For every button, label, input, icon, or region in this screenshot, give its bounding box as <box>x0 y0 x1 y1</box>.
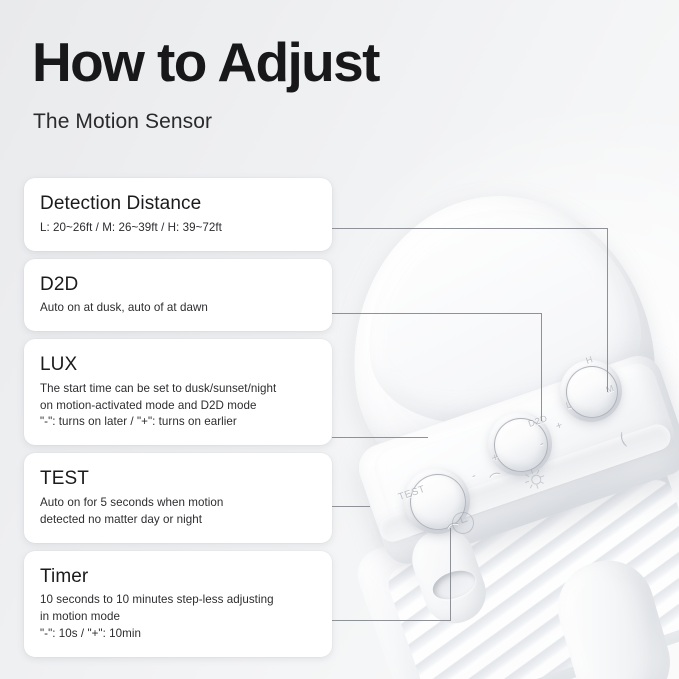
card-title: Timer <box>40 565 316 589</box>
leader-line-timer-h <box>332 620 451 621</box>
feature-card-list: Detection Distance L: 20~26ft / M: 26~39… <box>24 178 332 665</box>
engraving-minus-d2d: - <box>538 438 546 451</box>
page-title: How to Adjust <box>32 34 379 92</box>
dial-lux-knob <box>494 418 548 472</box>
leader-line-d2d-h <box>332 313 541 314</box>
card-timer: Timer 10 seconds to 10 minutes step-less… <box>24 551 332 657</box>
sensor-dome-edge <box>354 194 650 436</box>
leader-line-detection-distance-h <box>332 228 608 229</box>
card-body: The start time can be set to dusk/sunset… <box>40 381 316 431</box>
card-title: D2D <box>40 273 316 297</box>
card-d2d: D2D Auto on at dusk, auto of at dawn <box>24 259 332 332</box>
engraving-test: TEST <box>397 484 427 504</box>
engraving-minus-lux: - <box>470 470 478 483</box>
engraving-arc-lux: ⌒ <box>488 468 505 488</box>
card-lux: LUX The start time can be set to dusk/su… <box>24 339 332 445</box>
leader-line-d2d-v <box>541 313 542 421</box>
dial-test-ring <box>404 468 470 534</box>
sun-icon <box>524 468 547 491</box>
dial-d2d-ring <box>560 360 622 422</box>
engraving-plus-d2d: + <box>554 419 565 433</box>
clock-icon <box>449 509 477 537</box>
leader-line-test-h <box>332 506 370 507</box>
card-body: Auto on at dusk, auto of at dawn <box>40 300 316 317</box>
card-body: 10 seconds to 10 minutes step-less adjus… <box>40 592 316 642</box>
card-detection-distance: Detection Distance L: 20~26ft / M: 26~39… <box>24 178 332 251</box>
card-body: L: 20~26ft / M: 26~39ft / H: 39~72ft <box>40 220 316 237</box>
sensor-heatsink-fins <box>384 475 679 679</box>
sensor-control-housing <box>352 350 679 571</box>
dial-lux-ring <box>488 412 552 476</box>
page-root: TEST D2D L M H - + - + ⌒ ⌒ <box>0 0 679 679</box>
sensor-control-face <box>369 358 679 541</box>
sensor-mount-stem <box>547 550 679 679</box>
card-body: Auto on for 5 seconds when motion detect… <box>40 495 316 529</box>
dial-d2d-knob <box>566 366 618 418</box>
page-subtitle: The Motion Sensor <box>33 110 212 134</box>
motion-wave-icon <box>615 423 643 451</box>
leader-line-detection-distance-v <box>607 228 608 392</box>
sensor-neck <box>404 521 494 632</box>
sensor-control-lip <box>376 421 674 545</box>
sensor-lower-body <box>351 452 679 679</box>
dial-test-knob <box>410 474 466 530</box>
engraving-arc-timer: ⌒ <box>446 518 463 538</box>
leader-line-lux-h <box>332 437 428 438</box>
card-title: TEST <box>40 467 316 491</box>
engraving-h: H <box>585 354 595 366</box>
sensor-screw-hole <box>429 566 479 605</box>
engraving-l: L <box>565 399 574 410</box>
card-title: LUX <box>40 353 316 377</box>
engraving-plus-lux: + <box>490 451 501 465</box>
engraving-d2d: D2D <box>527 413 549 429</box>
card-test: TEST Auto on for 5 seconds when motion d… <box>24 453 332 542</box>
leader-line-timer-v <box>450 528 451 620</box>
card-title: Detection Distance <box>40 192 316 216</box>
